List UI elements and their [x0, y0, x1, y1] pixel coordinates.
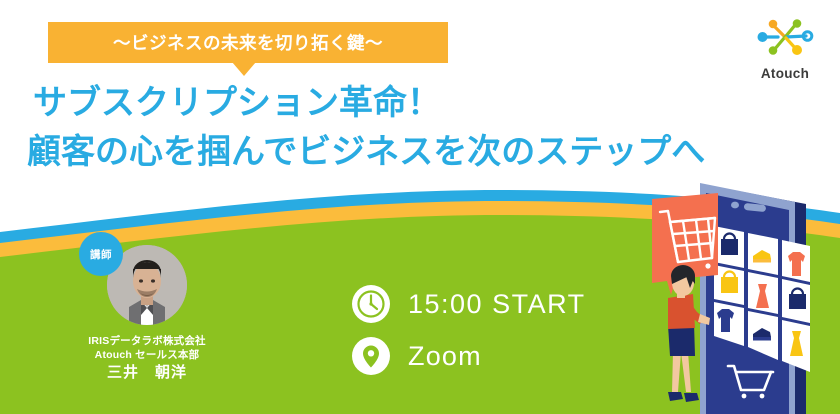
speaker-organization: IRISデータラボ株式会社: [62, 334, 232, 348]
cart-speech-bubble: [652, 193, 718, 295]
smartphone-illustration: [700, 183, 810, 414]
grid-item-shoe-yellow: [753, 250, 771, 263]
grid-item-shoe-navy: [753, 328, 771, 341]
network-nodes-icon: [750, 14, 820, 60]
speaker-badge: 講師: [79, 232, 123, 276]
ribbon-text: 〜ビジネスの未来を切り拓く鍵〜: [113, 30, 383, 55]
grid-item-handbag-yellow: [721, 272, 738, 294]
seminar-banner: 〜ビジネスの未来を切り拓く鍵〜 サブスクリプション革命！ 顧客の心を掴んでビジネ…: [0, 0, 840, 414]
brand-logo-text: Atouch: [750, 66, 820, 81]
location-pin-icon: [352, 337, 390, 375]
speaker-badge-label: 講師: [90, 247, 112, 262]
event-time-label: 15:00 START: [408, 289, 586, 320]
brand-logo: Atouch: [750, 14, 820, 81]
grid-item-handbag-navy: [721, 234, 738, 255]
shopping-cart-icon: [660, 211, 715, 272]
woman-figure: [668, 265, 710, 402]
ribbon-pointer: [232, 62, 256, 76]
speaker-department: Atouch セールス本部: [62, 348, 232, 362]
grid-item-tshirt-orange: [788, 252, 805, 276]
grid-item-handbag-navy-2: [789, 289, 806, 310]
grid-item-dress-yellow: [790, 331, 803, 356]
headline-line-1: サブスクリプション革命！: [33, 84, 441, 122]
page-title: サブスクリプション革命！ 顧客の心を掴んでビジネスを次のステップへ: [33, 79, 705, 177]
speaker-name: 三井 朝洋: [62, 363, 232, 383]
phone-cart-icon: [728, 366, 773, 398]
wave-band-blue: [0, 190, 840, 245]
grid-item-dress-orange: [756, 284, 769, 308]
clock-icon: [352, 285, 390, 323]
grid-item-tshirt-navy: [717, 309, 734, 332]
event-location-label: Zoom: [408, 341, 482, 372]
ribbon-banner: 〜ビジネスの未来を切り拓く鍵〜: [48, 22, 448, 63]
event-time-row: 15:00 START: [352, 278, 586, 330]
headline-line-2: 顧客の心を掴んでビジネスを次のステップへ: [27, 128, 705, 177]
product-grid: [714, 226, 810, 372]
speaker-info: IRISデータラボ株式会社 Atouch セールス本部 三井 朝洋: [62, 334, 232, 383]
event-location-row: Zoom: [352, 330, 586, 382]
event-details: 15:00 START Zoom: [352, 278, 586, 382]
